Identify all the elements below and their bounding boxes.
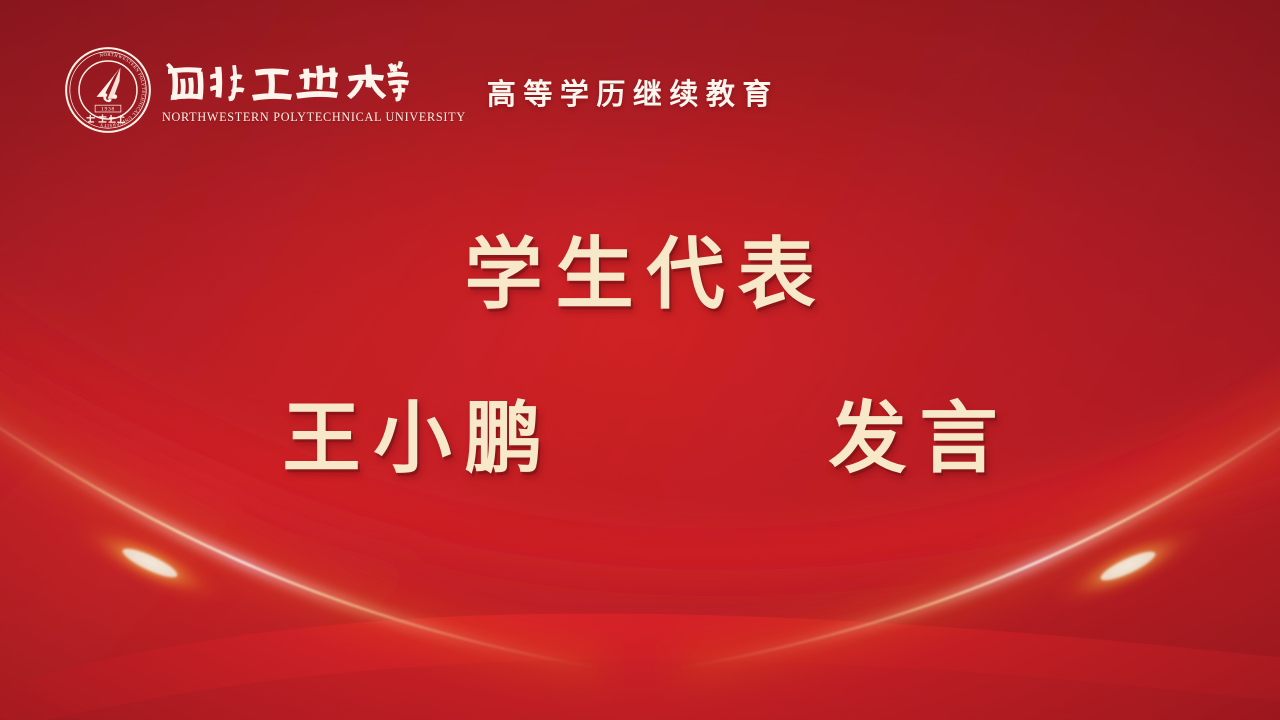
university-name-en: NORTHWESTERN POLYTECHNICAL UNIVERSITY xyxy=(162,110,466,125)
subline-speaker-and-action: 王小鹏 发言 xyxy=(0,400,1280,478)
svg-text:1938: 1938 xyxy=(101,107,115,113)
npu-seal-icon: NORTHWESTERN POLYTECHNICAL UNIVERSITY 19… xyxy=(62,44,154,136)
brand-header: NORTHWESTERN POLYTECHNICAL UNIVERSITY 19… xyxy=(62,44,779,136)
main-title-block: 学生代表 王小鹏 发言 xyxy=(0,236,1280,478)
headline-student-representative: 学生代表 xyxy=(0,236,1280,314)
university-name-cn-calligraphy xyxy=(160,57,410,109)
slide-canvas: NORTHWESTERN POLYTECHNICAL UNIVERSITY 19… xyxy=(0,0,1280,720)
department-label: 高等学历继续教育 xyxy=(487,71,779,113)
university-wordmark: NORTHWESTERN POLYTECHNICAL UNIVERSITY xyxy=(160,57,466,125)
